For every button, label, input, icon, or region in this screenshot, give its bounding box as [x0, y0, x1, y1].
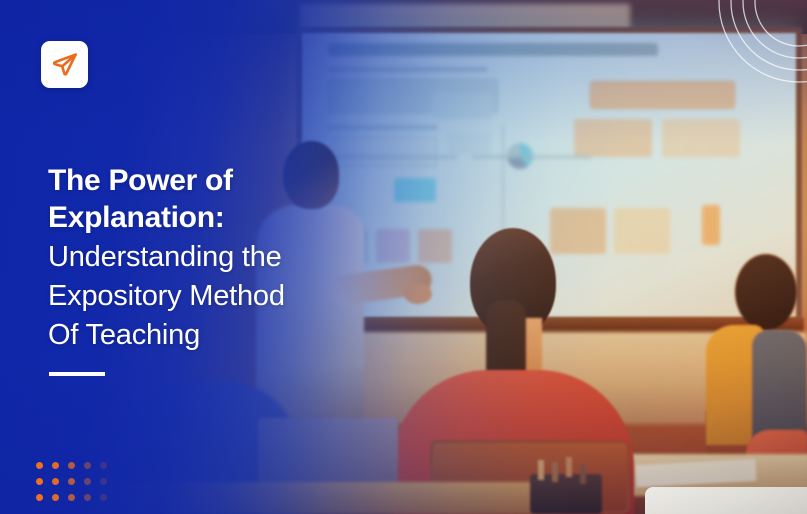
dot-grid-decoration	[36, 462, 116, 510]
headline-block: The Power of Explanation: Understanding …	[48, 163, 378, 354]
dot	[100, 462, 107, 469]
dot	[68, 462, 75, 469]
dot	[68, 478, 75, 485]
dot	[52, 494, 59, 501]
headline-bold-line-2: Explanation:	[48, 200, 378, 237]
hero-banner: The Power of Explanation: Understanding …	[0, 0, 807, 514]
dot	[100, 494, 107, 501]
dot	[36, 462, 43, 469]
brand-logo[interactable]	[41, 41, 88, 88]
headline-bold-line-1: The Power of	[48, 163, 378, 200]
dot	[84, 478, 91, 485]
dot	[100, 478, 107, 485]
title-underline-rule	[49, 372, 105, 376]
dot	[36, 494, 43, 501]
dot	[84, 494, 91, 501]
bottom-right-corner-card	[645, 487, 807, 514]
dot	[52, 462, 59, 469]
headline-light-line-3: Of Teaching	[48, 317, 378, 354]
paper-plane-send-icon	[51, 51, 79, 79]
headline-light-line-2: Expository Method	[48, 278, 378, 315]
dot	[52, 478, 59, 485]
dot	[84, 462, 91, 469]
headline-light-line-1: Understanding the	[48, 239, 378, 276]
dot	[36, 478, 43, 485]
dot	[68, 494, 75, 501]
